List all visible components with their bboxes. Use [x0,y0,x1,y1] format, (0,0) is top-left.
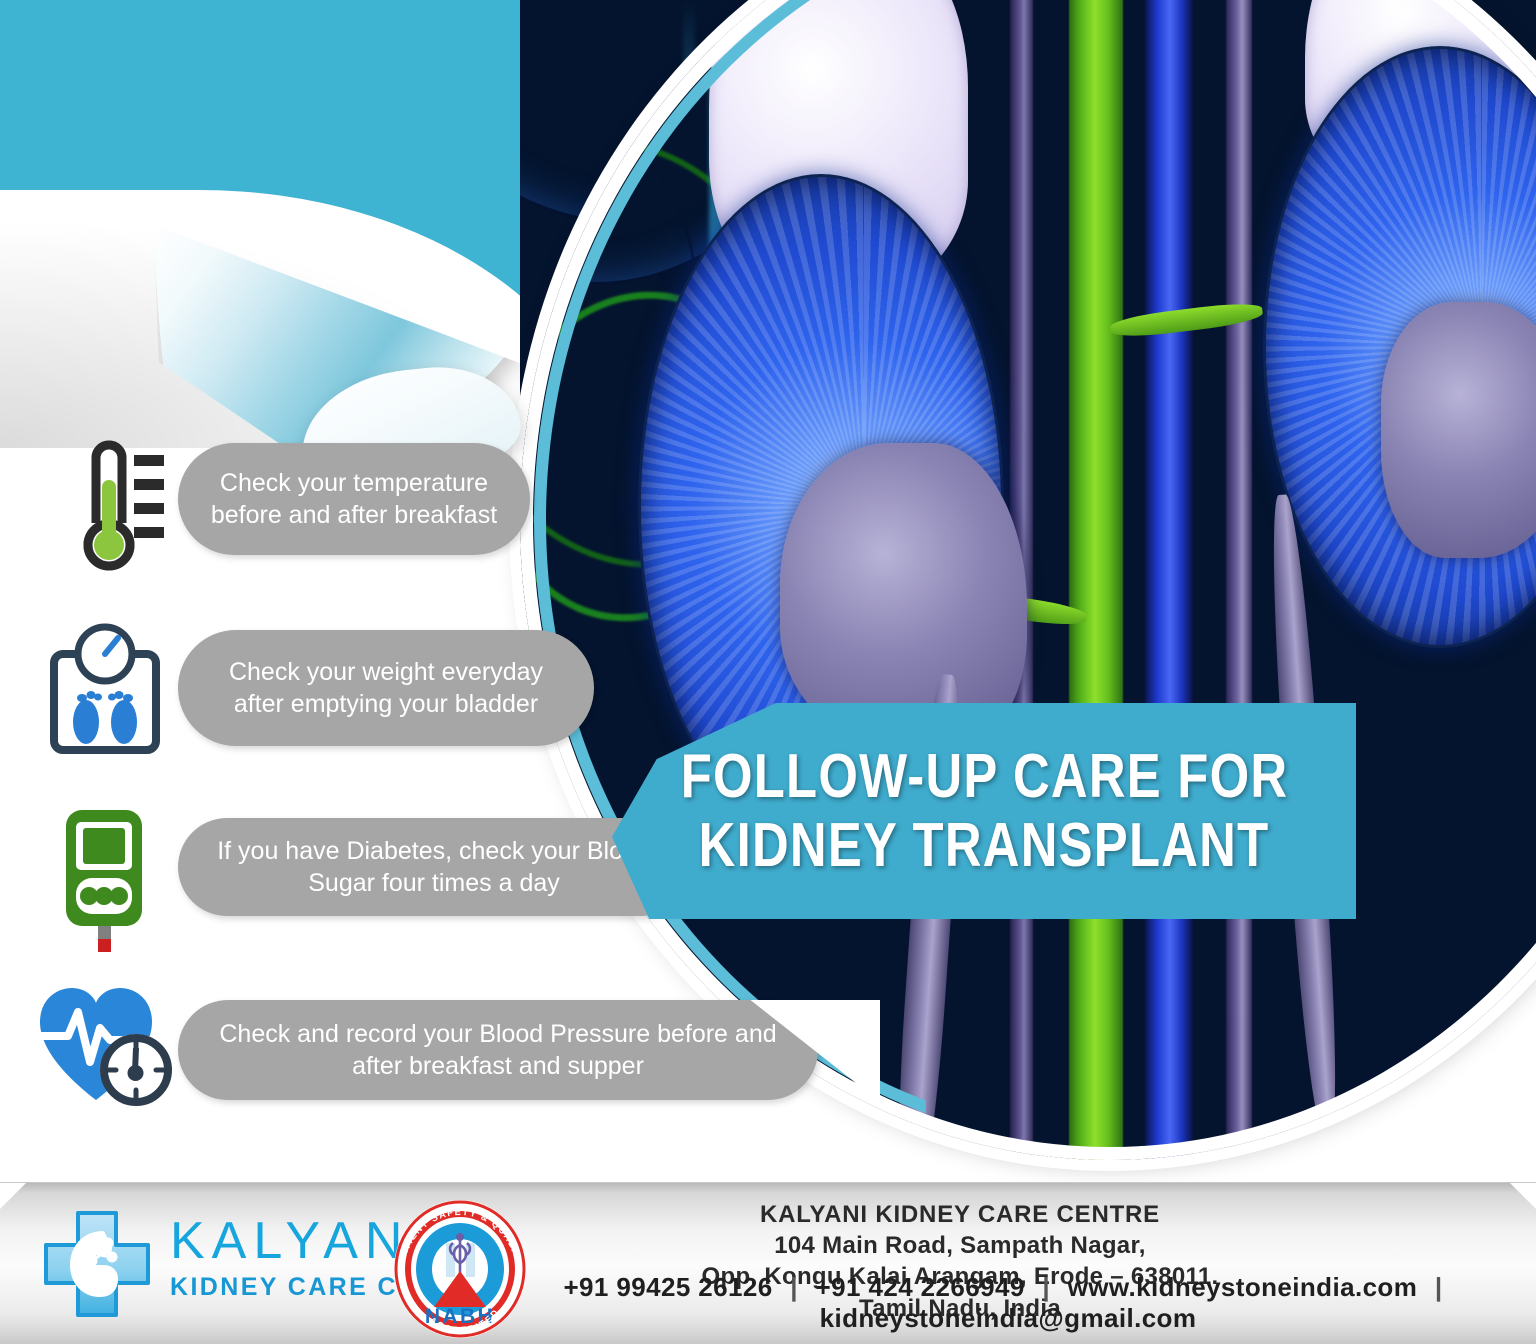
weight-scale-icon [42,618,168,758]
glucometer-icon [52,806,164,956]
email-link[interactable]: kidneystoneindia@gmail.com [820,1303,1197,1333]
tip-bubble-blood-sugar: If you have Diabetes, check your Blood S… [178,818,690,916]
kidney-image-circle [520,0,1536,1160]
renal-hilum-right [1381,302,1536,558]
title-line-2: KIDNEY TRANSPLANT [699,811,1270,880]
separator: | [1032,1272,1060,1302]
tip-text-blood-sugar: If you have Diabetes, check your Blood S… [208,835,660,900]
aorta-vessel [1069,0,1123,1160]
tip-text-temperature: Check your temperature before and after … [208,467,500,532]
phone-1[interactable]: +91 99425 26126 [563,1272,772,1302]
address-line-1: KALYANI KIDNEY CARE CENTRE [610,1199,1310,1230]
tip-text-weight: Check your weight everyday after emptyin… [208,656,564,721]
vena-cava-vessel [1145,0,1192,1160]
tip-bubble-blood-pressure: Check and record your Blood Pressure bef… [178,1000,818,1100]
thermometer-icon [52,428,172,578]
separator: | [1425,1272,1453,1302]
footer-corner-right [1510,1183,1536,1209]
heart-pulse-clock-icon [34,978,182,1114]
title-banner: FOLLOW-UP CARE FOR KIDNEY TRANSPLANT [612,703,1356,919]
title-line-1: FOLLOW-UP CARE FOR [680,742,1288,811]
ureter-vessel-right [1226,0,1252,1160]
tip-bubble-temperature: Check your temperature before and after … [178,443,530,555]
infographic-poster: Check your temperature before and after … [0,0,1536,1344]
footer-bar: KALYANI KIDNEY CARE CENTRE [0,1182,1536,1344]
tip-text-blood-pressure: Check and record your Blood Pressure bef… [208,1018,788,1083]
kidney-artwork [520,0,1536,1160]
tip-bubble-weight: Check your weight everyday after emptyin… [178,630,594,746]
phone-2[interactable]: +91 424 2266949 [816,1272,1025,1302]
separator: | [780,1272,808,1302]
footer-corner-left [0,1183,26,1209]
address-line-2: 104 Main Road, Sampath Nagar, [610,1230,1310,1261]
website-link[interactable]: www.kidneystoneindia.com [1068,1272,1418,1302]
contact-line: +91 99425 26126 | +91 424 2266949 | www.… [0,1272,1536,1334]
